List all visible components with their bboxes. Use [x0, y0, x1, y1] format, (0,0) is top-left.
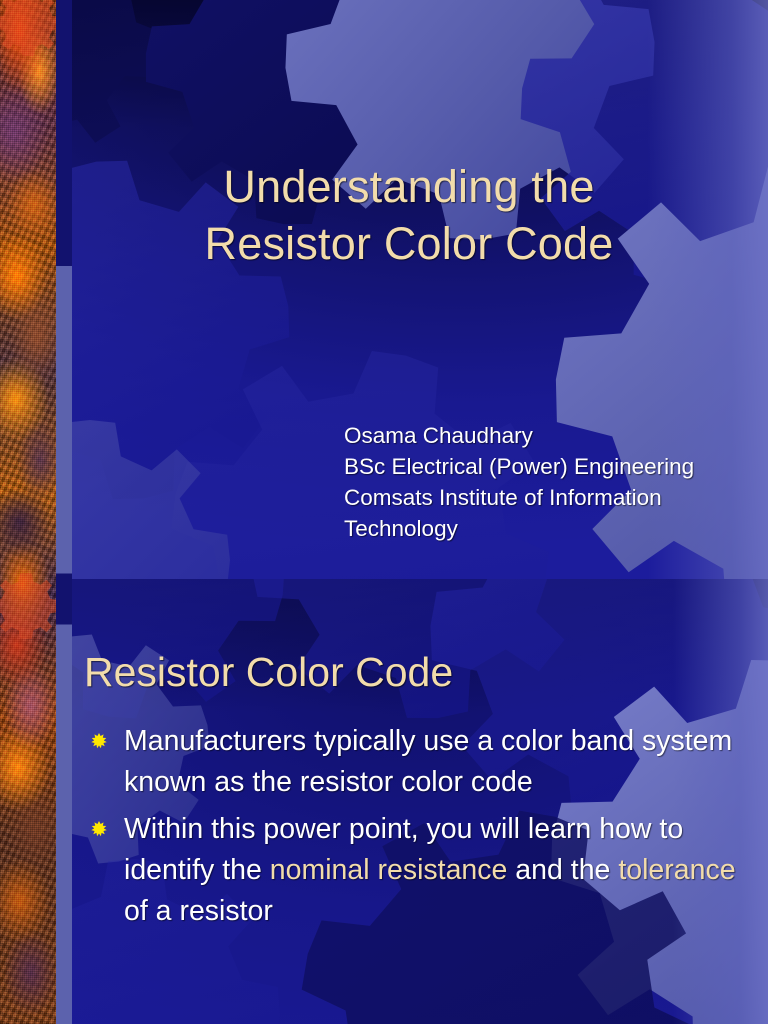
starburst-bullet-icon: [90, 821, 108, 839]
subtitle-degree: BSc Electrical (Power) Engineering: [344, 451, 734, 482]
slide-content: Resistor Color Code Manufacturers typica…: [0, 579, 768, 1024]
bullet-text: Manufacturers typically use a color band…: [124, 725, 732, 798]
title-block: Understanding the Resistor Color Code: [80, 158, 738, 272]
side-strip-noise: [0, 0, 56, 1024]
subtitle-block: Osama Chaudhary BSc Electrical (Power) E…: [344, 420, 734, 579]
subtitle-institution: Comsats Institute of Information Technol…: [344, 482, 734, 544]
title-line-1: Understanding the: [80, 158, 738, 215]
highlight-tolerance: tolerance: [618, 854, 735, 886]
list-item: Manufacturers typically use a color band…: [88, 721, 738, 803]
list-item: Within this power point, you will learn …: [88, 809, 738, 932]
slide-deck: Understanding the Resistor Color Code Os…: [0, 0, 768, 1024]
page-title: Understanding the Resistor Color Code: [80, 158, 738, 272]
section-heading: Resistor Color Code: [84, 647, 453, 697]
bullet-list: Manufacturers typically use a color band…: [88, 721, 738, 938]
slide-title: Understanding the Resistor Color Code Os…: [0, 0, 768, 579]
starburst-bullet-icon: [90, 733, 108, 751]
side-accent-band: [56, 0, 72, 1024]
subtitle-author: Osama Chaudhary: [344, 420, 734, 451]
title-line-2: Resistor Color Code: [80, 215, 738, 272]
highlight-nominal-resistance: nominal resistance: [270, 854, 508, 886]
decorative-side-strip: [0, 0, 56, 1024]
bullet-text: Within this power point, you will learn …: [124, 813, 736, 927]
